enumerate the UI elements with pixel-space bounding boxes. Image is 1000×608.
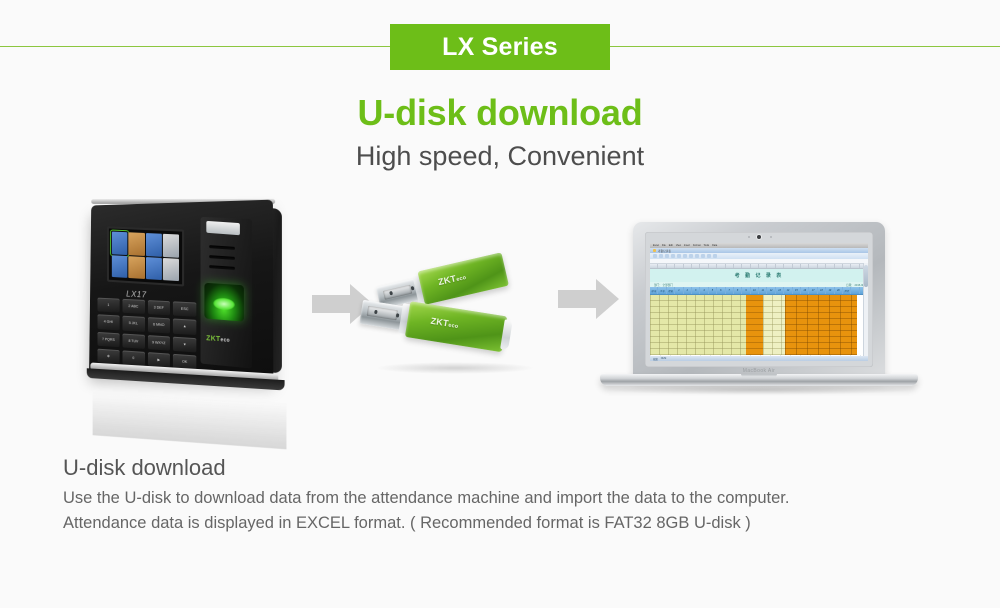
screen-icon-system	[112, 255, 128, 278]
toolbar-print-icon[interactable]	[671, 254, 675, 258]
key-up[interactable]: ▲	[173, 319, 196, 335]
col-head-cell[interactable]	[650, 264, 658, 268]
col-head-cell[interactable]	[801, 264, 809, 268]
toolbar-sort-icon[interactable]	[707, 254, 711, 258]
laptop-drop-shadow	[608, 385, 910, 395]
col-head-cell[interactable]	[667, 264, 675, 268]
th-cell: 姓名	[667, 287, 675, 294]
webcam-icon	[757, 235, 761, 239]
menu-item-edit[interactable]: Edit	[669, 244, 673, 247]
menu-item-tools[interactable]: Tools	[704, 244, 710, 247]
menu-item-file[interactable]: File	[662, 244, 666, 247]
th-cell: 1	[675, 287, 683, 294]
table-header-row: 序号 工号 姓名 1 2 3 4 5 6 7 8 9 10 11 12 13 1	[650, 287, 868, 295]
key-9[interactable]: 9 WXYZ	[147, 335, 170, 351]
menu-item-data[interactable]: Data	[712, 244, 717, 247]
screen-icon-settings	[163, 257, 179, 281]
report-period: 日期： 2015-08	[846, 283, 864, 287]
toolbar-save-icon[interactable]	[665, 254, 669, 258]
th-cell: 19	[826, 287, 834, 294]
col-head-cell[interactable]	[709, 264, 717, 268]
camera-indicator-right	[770, 236, 772, 238]
laptop-screen: Excel File Edit View Insert Format Tools…	[650, 243, 868, 361]
th-cell: 12	[767, 287, 775, 294]
toolbar-chart-icon[interactable]	[713, 254, 717, 258]
series-badge-label: LX Series	[442, 33, 558, 62]
status-bar: 就绪 NUM	[650, 356, 868, 361]
th-cell: 4	[700, 287, 708, 294]
col-head-cell[interactable]	[776, 264, 784, 268]
col-head-cell[interactable]	[658, 264, 666, 268]
th-cell: 2	[684, 287, 692, 294]
col-head-cell[interactable]	[734, 264, 742, 268]
th-cell: 15	[793, 287, 801, 294]
status-num: NUM	[661, 357, 666, 360]
caption-body: Use the U-disk to download data from the…	[63, 486, 963, 536]
toolbar-new-icon[interactable]	[653, 254, 657, 258]
col-head-cell[interactable]	[826, 264, 834, 268]
th-cell: 5	[709, 287, 717, 294]
key-esc[interactable]: ESC	[173, 301, 196, 317]
data-block-highlight-2[interactable]	[785, 295, 857, 355]
col-head-cell[interactable]	[784, 264, 792, 268]
th-cell: 8	[734, 287, 742, 294]
document-title: 考勤记录表	[658, 249, 671, 253]
col-head-cell[interactable]	[675, 264, 683, 268]
device-brand-suffix: eco	[220, 337, 229, 344]
th-cell: 20	[835, 287, 843, 294]
toolbar-paste-icon[interactable]	[689, 254, 693, 258]
th-cell: 3	[692, 287, 700, 294]
toolbar-open-icon[interactable]	[659, 254, 663, 258]
th-cell: 13	[776, 287, 784, 294]
menu-item-excel[interactable]: Excel	[653, 244, 659, 247]
th-cell: 14	[784, 287, 792, 294]
th-cell: 18	[818, 287, 826, 294]
screen-icon-user	[112, 232, 128, 255]
key-star[interactable]: ✻	[98, 348, 120, 364]
attendance-terminal: LX17 1 2 ABC 3 DEF ESC 4 GHI 5 JKL 6 MNO…	[78, 196, 293, 446]
key-6[interactable]: 6 MNO	[147, 317, 170, 333]
th-cell: 16	[801, 287, 809, 294]
key-0[interactable]: 0	[122, 350, 144, 366]
usb-flash-drives: ZKTeco ZKTeco	[365, 258, 555, 378]
screen-icon-usb-disk	[145, 233, 161, 256]
th-cell	[851, 287, 859, 294]
col-head-cell[interactable]	[742, 264, 750, 268]
menu-item-view[interactable]: View	[676, 244, 681, 247]
series-badge: LX Series	[390, 24, 610, 70]
key-7[interactable]: 7 PQRS	[98, 331, 120, 346]
report-banner-title: 考 勤 记 录 表	[650, 269, 868, 282]
screen-icon-report	[145, 257, 161, 281]
usb-connector-front	[359, 300, 404, 330]
device-indicator-window	[206, 221, 240, 235]
laptop-computer: Excel File Edit View Insert Format Tools…	[600, 222, 918, 407]
device-brand-main: ZKT	[206, 335, 220, 343]
col-head-cell[interactable]	[692, 264, 700, 268]
col-head-cell[interactable]	[684, 264, 692, 268]
th-cell: 9	[742, 287, 750, 294]
col-head-cell[interactable]	[700, 264, 708, 268]
page-subtitle: High speed, Convenient	[0, 141, 1000, 172]
th-cell: 7	[726, 287, 734, 294]
slide-canvas: LX Series U-disk download High speed, Co…	[0, 0, 1000, 608]
page-title: U-disk download	[0, 92, 1000, 134]
col-head-cell[interactable]	[759, 264, 767, 268]
status-ready: 就绪	[653, 357, 658, 361]
toolbar-undo-icon[interactable]	[695, 254, 699, 258]
device-keypad: 1 2 ABC 3 DEF ESC 4 GHI 5 JKL 6 MNO ▲ 7 …	[98, 298, 197, 370]
spreadsheet-app: Excel File Edit View Insert Format Tools…	[650, 243, 868, 361]
col-head-cell[interactable]	[835, 264, 843, 268]
col-head-cell[interactable]	[767, 264, 775, 268]
th-cell: 工号	[658, 287, 666, 294]
col-head-cell[interactable]	[717, 264, 725, 268]
col-head-cell[interactable]	[726, 264, 734, 268]
caption-line-1: Use the U-disk to download data from the…	[63, 486, 963, 511]
caption-line-2: Attendance data is displayed in EXCEL fo…	[63, 511, 963, 536]
col-head-cell[interactable]	[809, 264, 817, 268]
screen-icon-datetime	[129, 256, 145, 279]
th-cell: 11	[759, 287, 767, 294]
col-head-cell[interactable]	[851, 264, 859, 268]
usb-drop-shadow	[375, 362, 535, 374]
vertical-scrollbar[interactable]	[863, 263, 868, 356]
col-head-cell[interactable]	[751, 264, 759, 268]
th-cell: 10	[751, 287, 759, 294]
device-model-label: LX17	[126, 289, 146, 299]
col-head-cell[interactable]	[843, 264, 851, 268]
toolbar-copy-icon[interactable]	[683, 254, 687, 258]
document-icon	[653, 249, 656, 252]
key-2[interactable]: 2 ABC	[122, 299, 144, 314]
device-lcd-screen	[107, 226, 184, 286]
key-8[interactable]: 8 TUV	[122, 333, 144, 349]
data-block-identity[interactable]	[650, 295, 746, 355]
screen-icon-record	[163, 234, 179, 258]
menu-item-format[interactable]: Format	[693, 244, 701, 247]
col-head-cell[interactable]	[793, 264, 801, 268]
menu-item-insert[interactable]: Insert	[684, 244, 690, 247]
th-cell: 17	[809, 287, 817, 294]
key-down[interactable]: ▼	[173, 336, 196, 352]
data-block-highlight-1[interactable]	[746, 295, 763, 355]
caption-title: U-disk download	[63, 455, 226, 481]
data-block-middle[interactable]	[763, 295, 785, 355]
key-4[interactable]: 4 GHI	[98, 315, 120, 330]
th-cell: 合计	[843, 287, 851, 294]
camera-indicator-left	[748, 236, 750, 238]
key-1[interactable]: 1	[98, 298, 120, 313]
table-data-grid[interactable]	[650, 295, 868, 355]
key-5[interactable]: 5 JKL	[122, 316, 144, 331]
screen-icon-users	[129, 232, 145, 255]
laptop-lid-notch	[741, 374, 777, 377]
th-cell: 6	[717, 287, 725, 294]
toolbar-sum-icon[interactable]	[701, 254, 705, 258]
fingerprint-sensor[interactable]	[204, 283, 244, 322]
th-cell: 序号	[650, 287, 658, 294]
col-head-cell[interactable]	[818, 264, 826, 268]
device-reflection	[93, 379, 287, 449]
key-3[interactable]: 3 DEF	[147, 300, 170, 316]
toolbar-cut-icon[interactable]	[677, 254, 681, 258]
report-department: 部门： 全部部门	[654, 283, 673, 287]
